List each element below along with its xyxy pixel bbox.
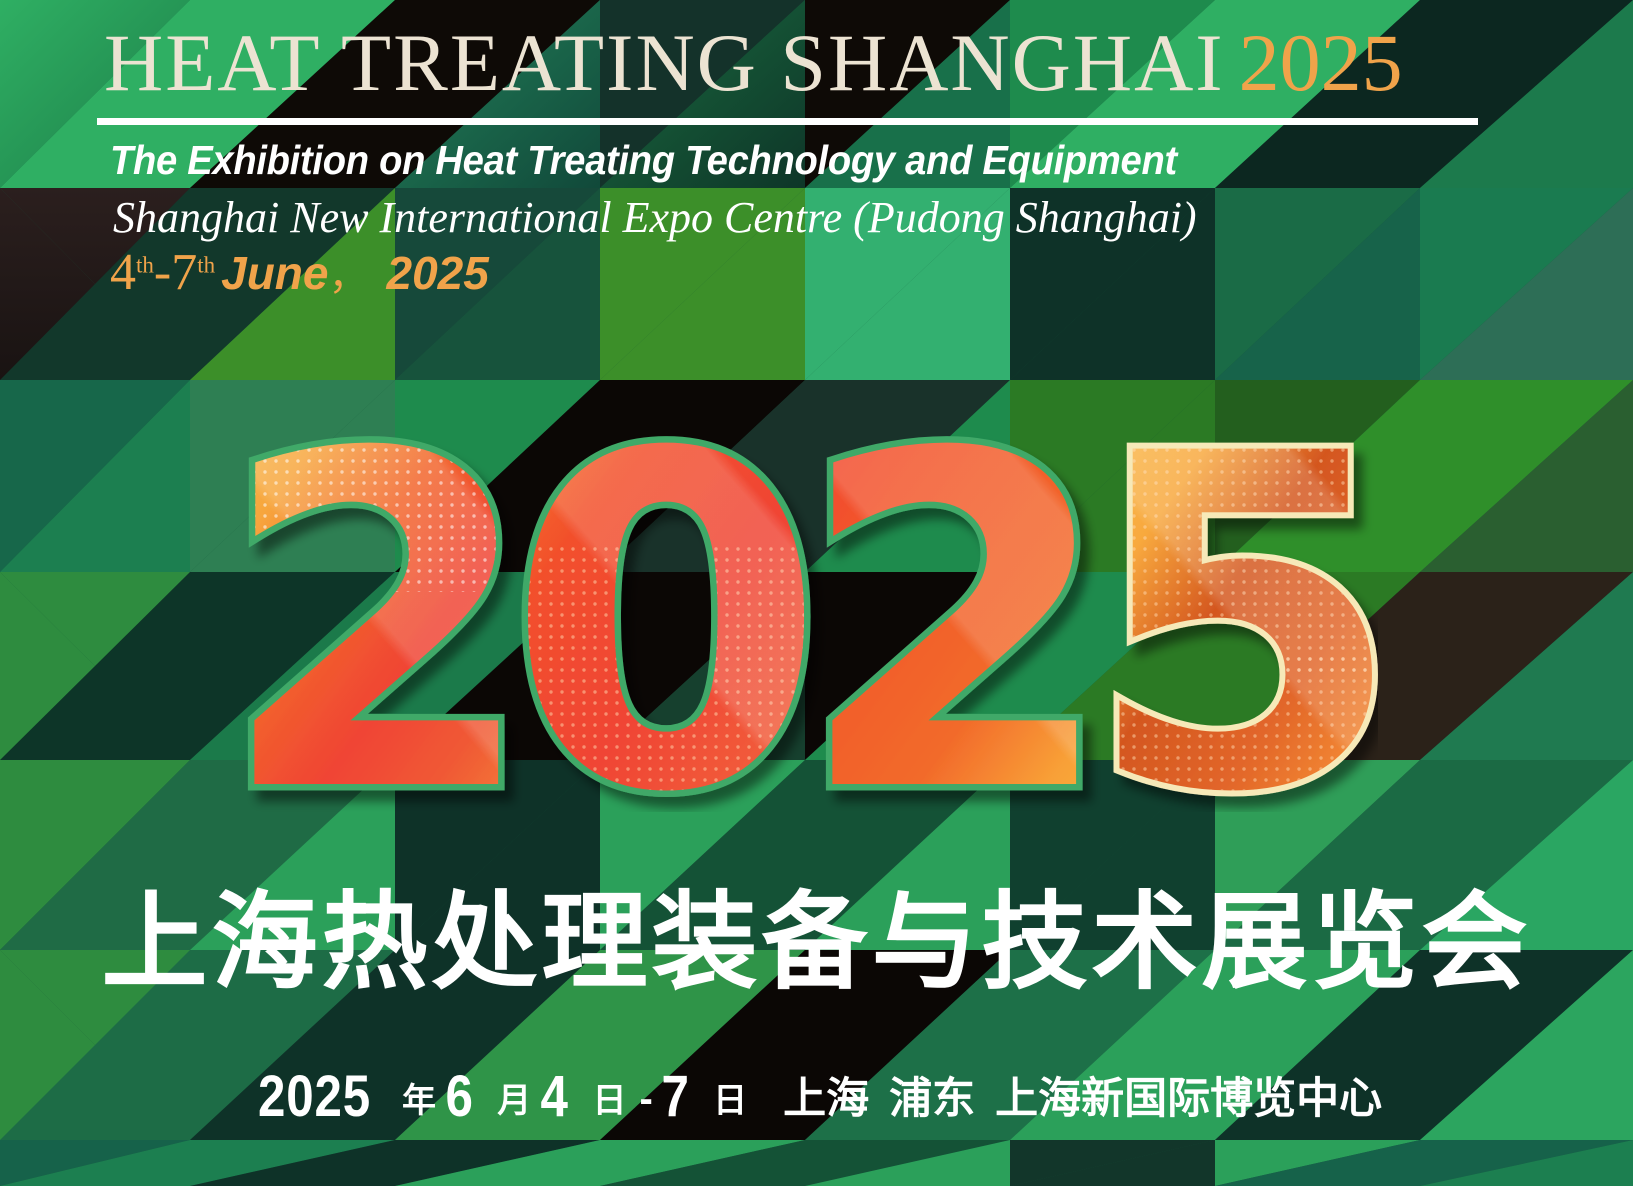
date-month: June [221,247,328,299]
footer-year: 2025 [258,1063,371,1130]
date-day-end-ordinal: th [197,253,215,278]
footer-dash: - [639,1077,652,1121]
poster-title: HEAT TREATING SHANGHAI2025 [104,22,1403,104]
subtitle-english: The Exhibition on Heat Treating Technolo… [110,137,1177,184]
hero-digit-5: 5 [1058,392,1378,812]
date-comma: ， [328,254,368,298]
footer-day-end: 7 [661,1063,689,1130]
date-separator: - [154,244,171,301]
header-dateline: 4th-7thJune，2025 [110,243,489,302]
date-year: 2025 [386,247,488,299]
title-divider-rule [97,118,1478,125]
chinese-headline: 上海热处理装备与技术展览会 [0,886,1633,1000]
footer-venue: 上海新国际博览中心 [995,1074,1382,1124]
date-day-end: 7 [171,244,197,301]
poster-title-main: HEAT TREATING SHANGHAI [104,17,1225,108]
date-day-start: 4 [110,244,136,301]
footer-day-unit: 日 [592,1081,626,1121]
hero-year-2025: 2 0 2 5 2 0 [218,392,1378,812]
venue-english: Shanghai New International Expo Centre (… [113,192,1197,243]
footer-month: 6 [445,1063,473,1130]
footer-district: 浦东 [889,1074,975,1124]
footer-day-start: 4 [541,1063,569,1130]
poster-title-year: 2025 [1239,17,1403,108]
chinese-footer-line: 2025年6月4日-7日上海浦东上海新国际博览中心 [0,1063,1633,1130]
footer-city: 上海 [783,1074,869,1124]
footer-year-unit: 年 [402,1081,436,1121]
footer-day-unit-2: 日 [713,1081,747,1121]
footer-month-unit: 月 [497,1081,531,1121]
poster-canvas: HEAT TREATING SHANGHAI2025 The Exhibitio… [0,0,1633,1186]
date-day-start-ordinal: th [136,253,154,278]
